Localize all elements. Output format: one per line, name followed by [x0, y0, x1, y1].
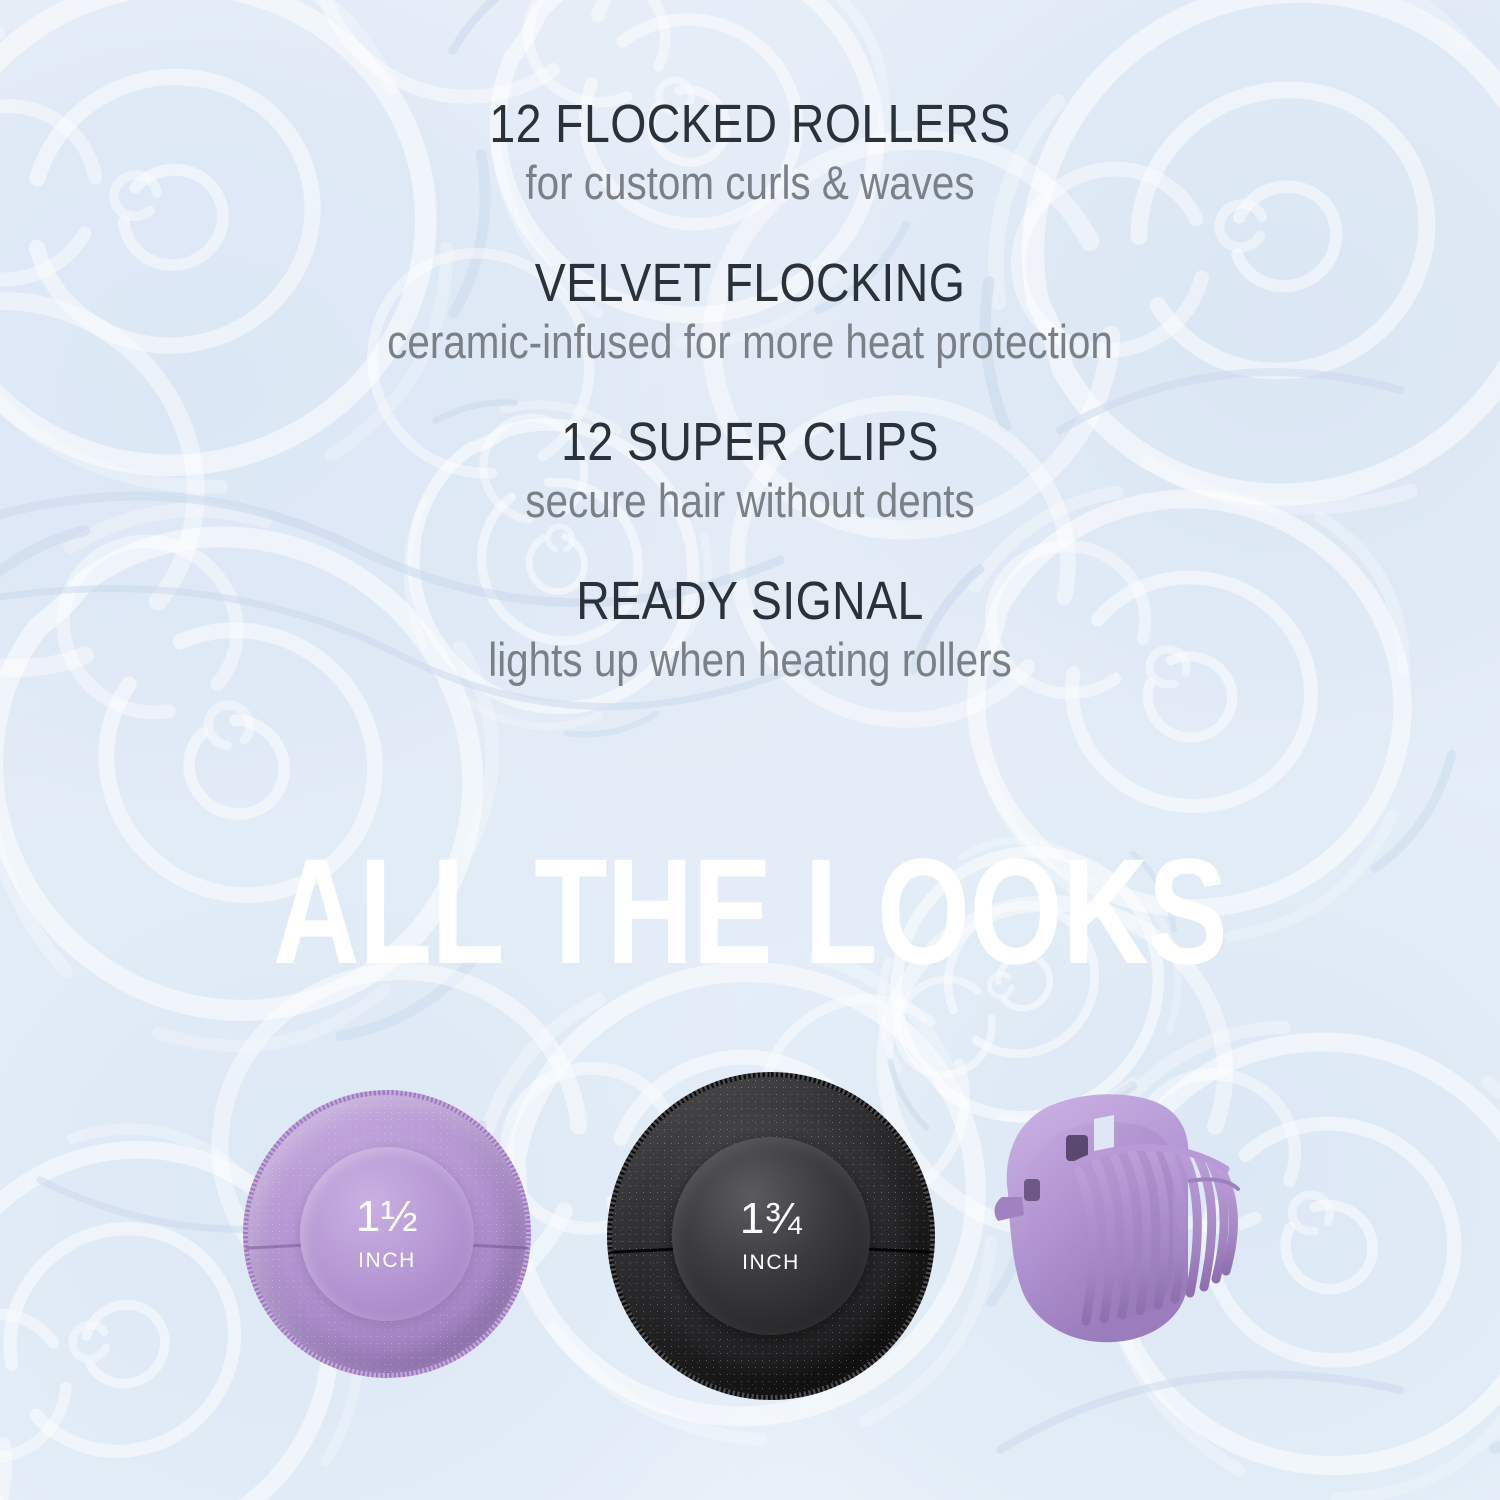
- feature-subtitle: secure hair without dents: [105, 472, 1395, 529]
- feature-block-flocked-rollers: 12 FLOCKED ROLLERS for custom curls & wa…: [0, 96, 1500, 211]
- feature-block-super-clips: 12 SUPER CLIPS secure hair without dents: [0, 414, 1500, 529]
- roller-size-number: 1¾: [740, 1197, 802, 1241]
- hair-clip-artwork: [990, 1085, 1280, 1405]
- hair-clip-image: [990, 1085, 1280, 1405]
- feature-list: 12 FLOCKED ROLLERS for custom curls & wa…: [0, 96, 1500, 688]
- product-feature-infographic: 12 FLOCKED ROLLERS for custom curls & wa…: [0, 0, 1500, 1500]
- roller-hub: 1¾ INCH: [672, 1137, 870, 1335]
- product-lineup: 1½ INCH 1¾ INCH: [0, 1035, 1500, 1455]
- feature-subtitle: lights up when heating rollers: [105, 631, 1395, 688]
- feature-subtitle: for custom curls & waves: [105, 154, 1395, 211]
- feature-title: READY SIGNAL: [105, 573, 1395, 631]
- feature-subtitle: ceramic-infused for more heat protection: [105, 313, 1395, 370]
- feature-title: VELVET FLOCKING: [105, 255, 1395, 313]
- feature-block-ready-signal: READY SIGNAL lights up when heating roll…: [0, 573, 1500, 688]
- feature-block-velvet-flocking: VELVET FLOCKING ceramic-infused for more…: [0, 255, 1500, 370]
- purple-roller-image: 1½ INCH: [248, 1095, 526, 1373]
- feature-title: 12 SUPER CLIPS: [105, 414, 1395, 472]
- roller-size-unit: INCH: [358, 1249, 416, 1273]
- page-headline: ALL THE LOOKS: [150, 836, 1350, 986]
- feature-title: 12 FLOCKED ROLLERS: [105, 96, 1395, 154]
- roller-size-unit: INCH: [742, 1251, 800, 1275]
- black-roller-image: 1¾ INCH: [612, 1077, 930, 1395]
- roller-size-number: 1½: [356, 1195, 418, 1239]
- roller-hub: 1½ INCH: [300, 1147, 474, 1321]
